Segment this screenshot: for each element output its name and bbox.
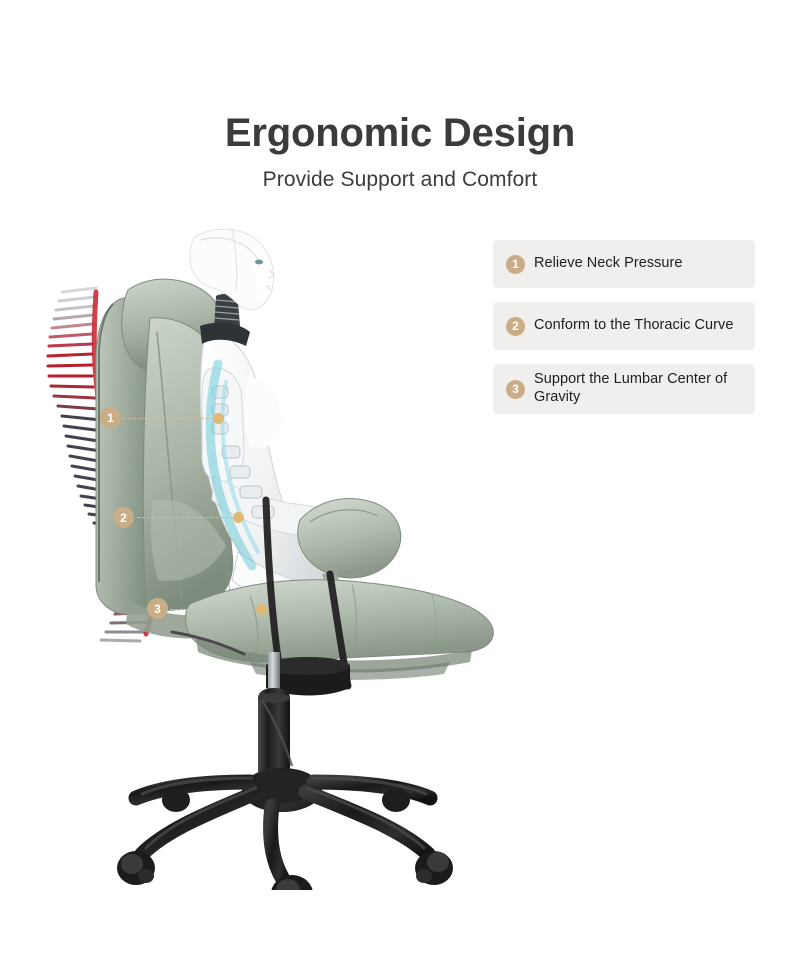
feature-card-1[interactable]: 1 Relieve Neck Pressure [493, 240, 755, 288]
page-subtitle: Provide Support and Comfort [0, 168, 800, 192]
cervical-vertebrae-ticks [48, 288, 98, 409]
feature-label-1: Relieve Neck Pressure [534, 255, 683, 273]
connector-line-2 [137, 517, 238, 518]
chair-hotspot-2 [233, 512, 244, 523]
feature-card-3[interactable]: 3 Support the Lumbar Center of Gravity [493, 364, 755, 414]
spine-marker-3: 3 [147, 598, 168, 619]
chair-and-mannequin-graphic [0, 200, 520, 890]
header: Ergonomic Design Provide Support and Com… [0, 112, 800, 192]
spine-marker-1: 1 [100, 407, 121, 428]
feature-card-2[interactable]: 2 Conform to the Thoracic Curve [493, 302, 755, 350]
chair-hotspot-1 [213, 413, 224, 424]
chair-hotspot-3 [256, 604, 267, 615]
feature-list: 1 Relieve Neck Pressure 2 Conform to the… [493, 240, 755, 428]
feature-label-2: Conform to the Thoracic Curve [534, 317, 733, 335]
spine-marker-2: 2 [113, 507, 134, 528]
product-illustration: 1 2 3 [0, 200, 520, 890]
page-title: Ergonomic Design [0, 112, 800, 154]
connector-line-3 [170, 609, 262, 610]
infographic-page: Ergonomic Design Provide Support and Com… [0, 0, 800, 977]
connector-line-1 [123, 418, 219, 419]
feature-label-3: Support the Lumbar Center of Gravity [534, 371, 743, 406]
